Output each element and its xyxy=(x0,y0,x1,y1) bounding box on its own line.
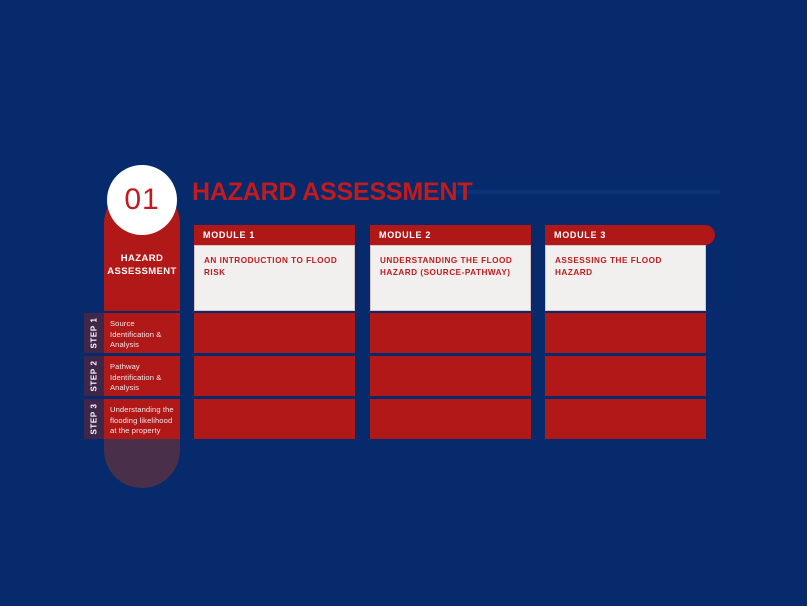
module-3-header[interactable]: MODULE 3 xyxy=(545,225,715,245)
module-3-header-label: MODULE 3 xyxy=(554,230,606,240)
grid-cell-r1c2[interactable] xyxy=(370,313,531,353)
module-2-header-label: MODULE 2 xyxy=(379,230,431,240)
step-tab-2[interactable]: STEP 2 xyxy=(84,356,104,396)
pillar-title-line-2: ASSESSMENT xyxy=(104,265,180,278)
grid-cell-r3c3[interactable] xyxy=(545,399,706,439)
step-description-3: Understanding the flooding likelihood at… xyxy=(104,399,180,439)
step-tab-3[interactable]: STEP 3 xyxy=(84,399,104,439)
page-title: HAZARD ASSESSMENT xyxy=(192,180,472,205)
step-description-1: Source Identification & Analysis xyxy=(104,313,180,353)
pillar-title-line-1: HAZARD xyxy=(104,252,180,265)
title-underline-rule xyxy=(455,190,720,194)
module-2-card[interactable]: UNDERSTANDING THE FLOOD HAZARD (SOURCE-P… xyxy=(370,245,531,311)
grid-cell-r1c3[interactable] xyxy=(545,313,706,353)
step-tab-1[interactable]: STEP 1 xyxy=(84,313,104,353)
step-tab-1-label: STEP 1 xyxy=(90,317,99,348)
grid-cell-r2c1[interactable] xyxy=(194,356,355,396)
step-tab-2-label: STEP 2 xyxy=(90,360,99,391)
module-1-card[interactable]: AN INTRODUCTION TO FLOOD RISK xyxy=(194,245,355,311)
module-1-header-label: MODULE 1 xyxy=(203,230,255,240)
module-1-header[interactable]: MODULE 1 xyxy=(194,225,355,245)
grid-cell-r2c2[interactable] xyxy=(370,356,531,396)
grid-cell-r2c3[interactable] xyxy=(545,356,706,396)
slide-canvas: HAZARD ASSESSMENT 01 HAZARD ASSESSMENT S… xyxy=(0,0,807,606)
grid-cell-r1c1[interactable] xyxy=(194,313,355,353)
grid-cell-r3c1[interactable] xyxy=(194,399,355,439)
module-3-card[interactable]: ASSESSING THE FLOOD HAZARD xyxy=(545,245,706,311)
pillar-title: HAZARD ASSESSMENT xyxy=(104,252,180,278)
step-description-2: Pathway Identification & Analysis xyxy=(104,356,180,396)
grid-cell-r3c2[interactable] xyxy=(370,399,531,439)
step-number-text: 01 xyxy=(124,185,159,215)
step-tab-3-label: STEP 3 xyxy=(90,403,99,434)
step-number-badge: 01 xyxy=(107,165,177,235)
module-2-header[interactable]: MODULE 2 xyxy=(370,225,531,245)
